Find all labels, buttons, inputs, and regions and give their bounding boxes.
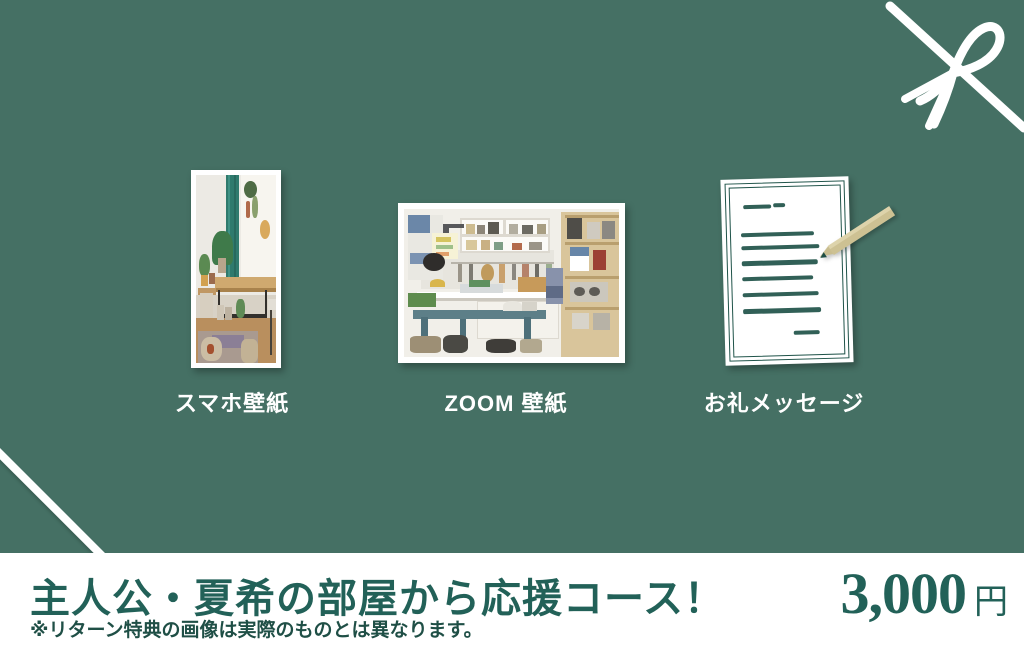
reward-image-thank-you-message <box>720 176 853 366</box>
price-amount: 3,000 <box>841 565 967 623</box>
caption-smartphone-wallpaper: スマホ壁紙 <box>120 386 344 418</box>
course-footer-band: 主人公・夏希の部屋から応援コース！ ※リターン特典の画像は実際のものとは異なりま… <box>0 553 1024 655</box>
reward-course-banner: スマホ壁紙 ZOOM 壁紙 お礼メッセージ 主人公・夏希の部屋から応援コース！ … <box>0 0 1024 655</box>
kitchen-photo <box>404 209 619 357</box>
caption-thank-you-message: お礼メッセージ <box>672 386 896 418</box>
message-card <box>725 180 850 361</box>
caption-zoom-wallpaper: ZOOM 壁紙 <box>394 386 618 418</box>
price-block: 3,000 円 <box>841 565 1009 623</box>
disclaimer-note: ※リターン特典の画像は実際のものとは異なります。 <box>30 615 483 642</box>
price-currency: 円 <box>974 585 1008 619</box>
reward-image-smartphone-wallpaper <box>191 170 281 368</box>
ribbon-bow-icon <box>860 0 1024 140</box>
room-photo <box>196 175 276 363</box>
reward-image-zoom-wallpaper <box>398 203 625 363</box>
